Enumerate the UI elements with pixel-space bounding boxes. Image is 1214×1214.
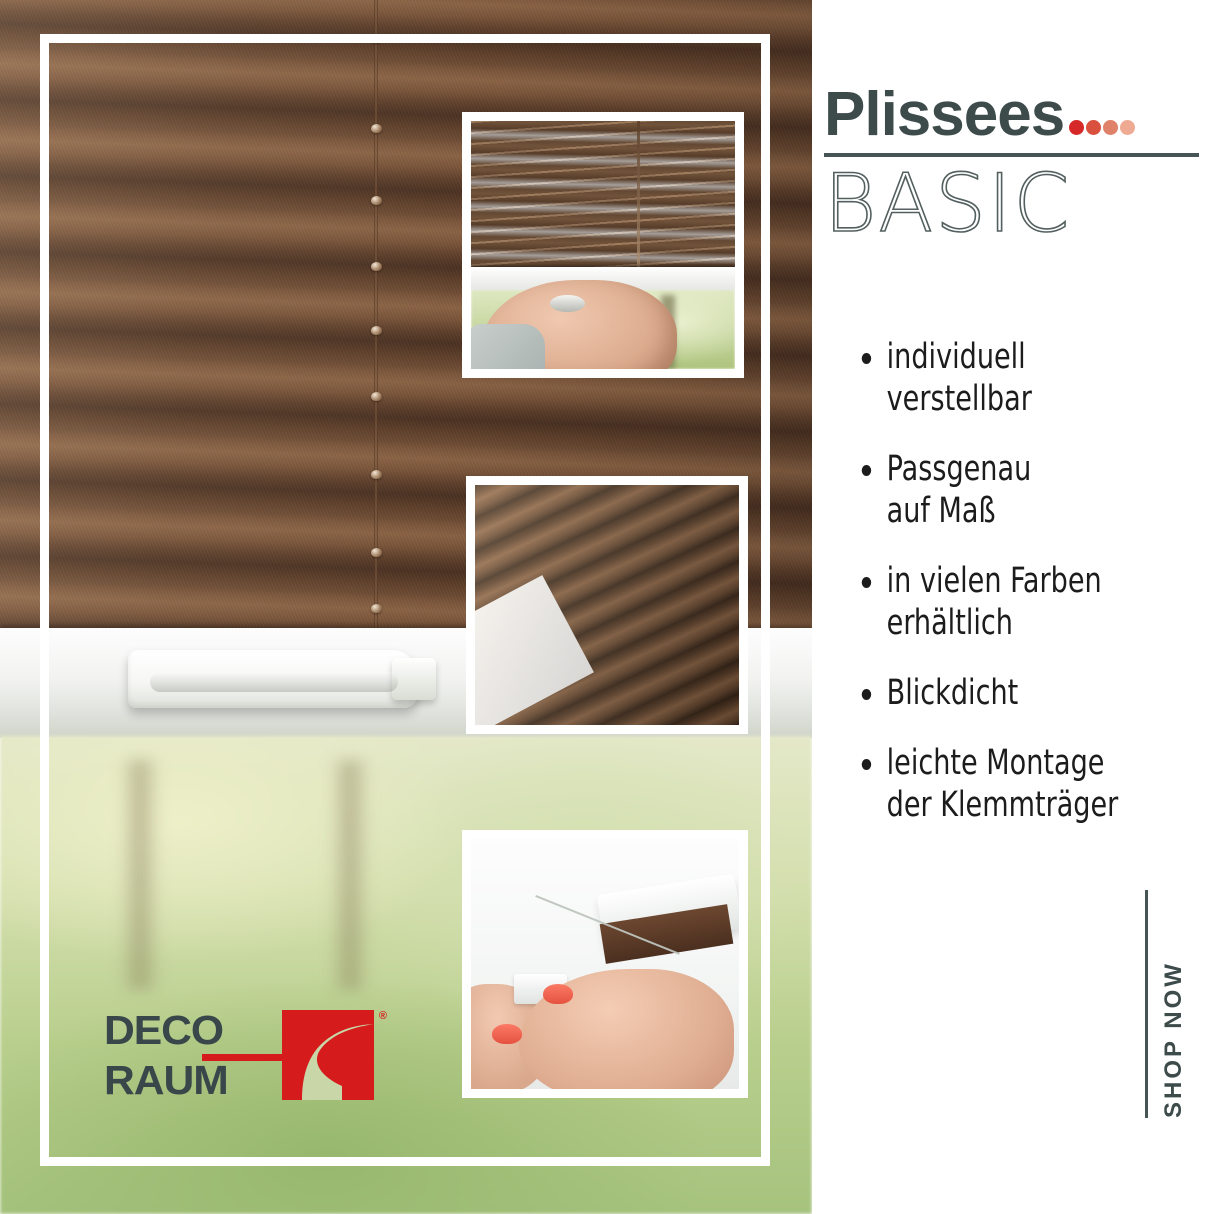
accent-dots [1067,120,1135,140]
shop-now-label[interactable]: SHOP NOW [1160,890,1188,1118]
title-block: Plissees BASIC [824,82,1214,247]
feature-item: in vielen Farben erhältlich [860,560,1163,644]
feature-list: individuell verstellbarPassgenau auf Maß… [860,336,1212,854]
logo-line-raum: RAUM [104,1058,228,1102]
feature-item: individuell verstellbar [860,336,1163,420]
content-panel: Plissees BASIC individuell verstellbarPa… [812,0,1214,1214]
registered-trademark-mark: ® [379,1010,387,1022]
feature-item: leichte Montage der Klemmträger [860,742,1163,826]
logo-line-deco: DECO [104,1008,302,1052]
advertising-banner: DECO RAUM ® Plissees BASIC individuell v… [0,0,1214,1214]
feature-item: Blickdicht [860,672,1163,714]
shop-now-cta[interactable]: SHOP NOW [1145,890,1188,1118]
accent-dot-4 [1120,120,1135,135]
deco-raum-logo: DECO RAUM ® [104,1008,374,1104]
logo-red-square-mark: ® [282,1010,374,1100]
page-title: Plissees [824,82,1064,148]
page-subtitle: BASIC [824,161,1214,247]
accent-dot-3 [1103,120,1118,135]
product-photo-panel: DECO RAUM ® [0,0,812,1214]
accent-dot-2 [1086,120,1101,135]
accent-dot-1 [1069,120,1084,135]
cta-divider-rule [1145,890,1148,1118]
white-outline-frame [40,34,770,1166]
feature-item: Passgenau auf Maß [860,448,1163,532]
logo-mark-negative-shape [282,1010,374,1100]
